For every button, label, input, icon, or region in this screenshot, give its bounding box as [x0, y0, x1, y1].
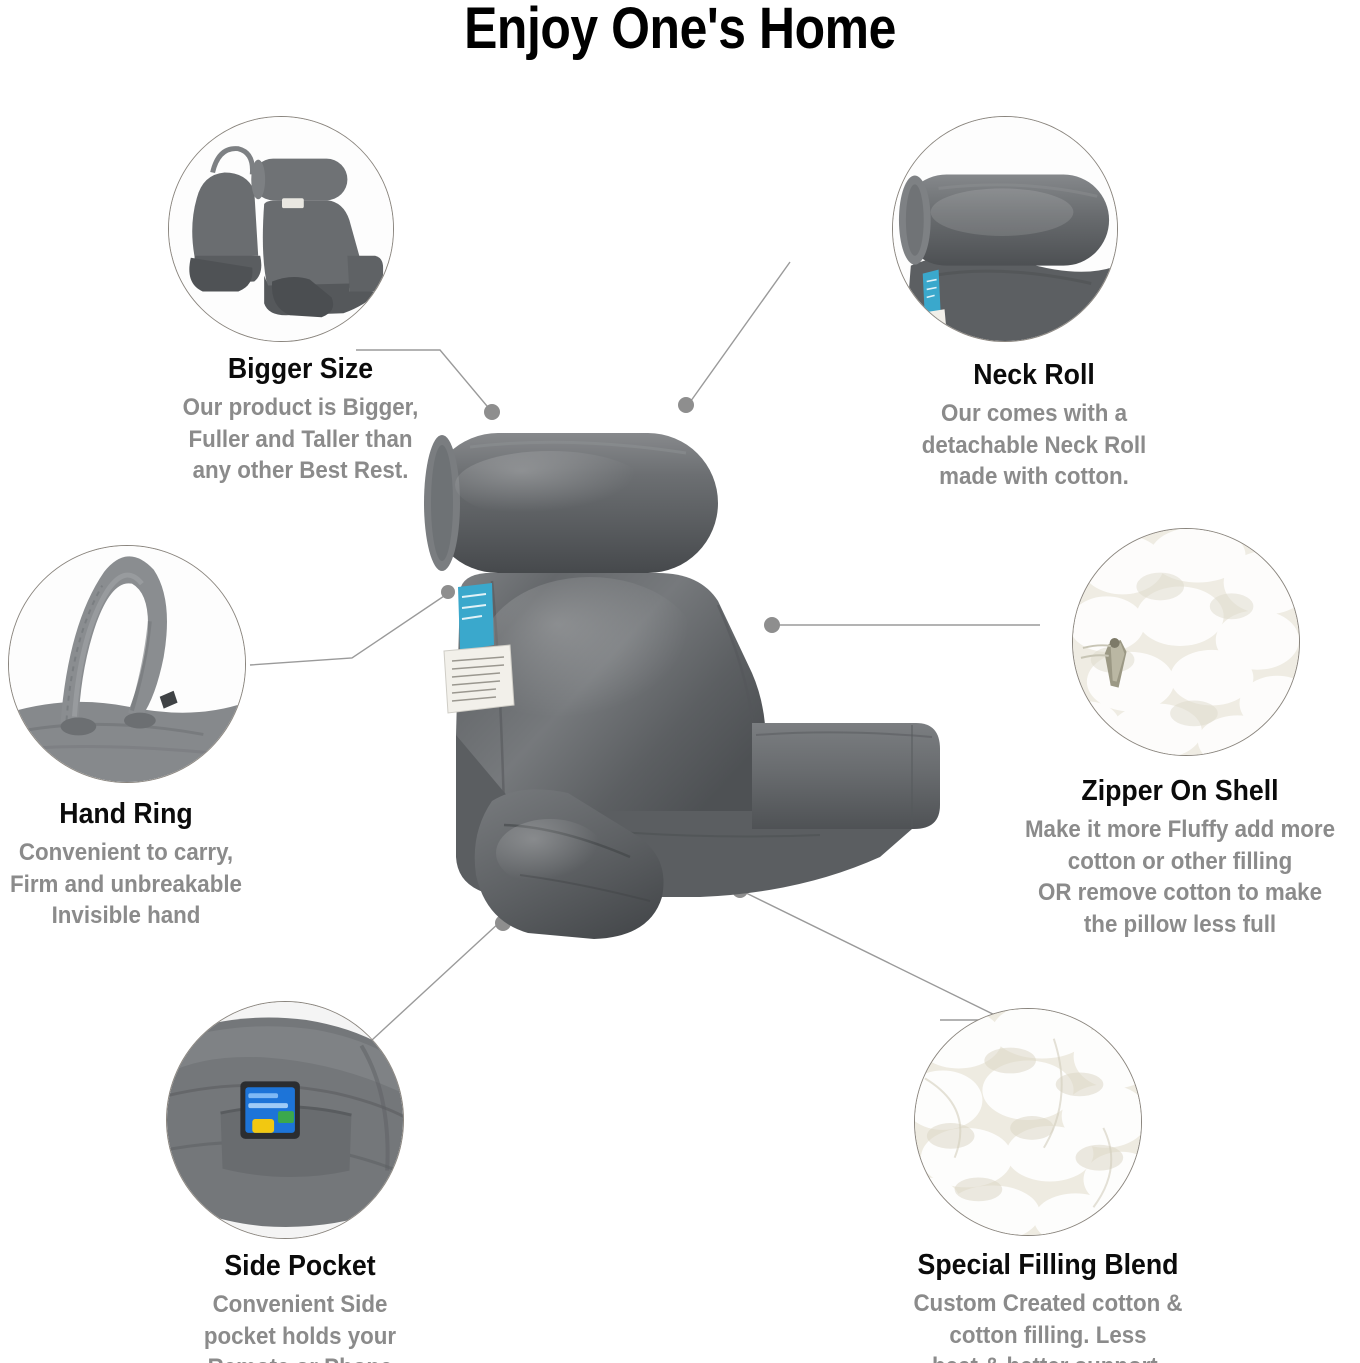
feature-body: Our comes with a detachable Neck Roll ma…: [861, 398, 1207, 493]
feature-title: Side Pocket: [133, 1251, 468, 1283]
neck-roll-image: [892, 116, 1118, 342]
zipper-on-shell-image: [1072, 528, 1300, 756]
feature-title: Neck Roll: [863, 360, 1205, 392]
side-pocket-image: [166, 1001, 404, 1239]
feature-body: Make it more Fluffy add more cotton or o…: [1013, 814, 1348, 941]
feature-title: Bigger Size: [133, 354, 469, 386]
infographic-page: Enjoy One's Home: [0, 0, 1360, 1363]
feature-body: Custom Created cotton & cotton filling. …: [875, 1288, 1221, 1363]
bigger-size-image: [168, 116, 394, 342]
feature-title: Zipper On Shell: [1014, 776, 1345, 808]
feature-special-filling-blend: Special Filling Blend Custom Created cot…: [862, 1008, 1234, 1363]
feature-body: Convenient Side pocket holds your Remote…: [131, 1289, 470, 1363]
feature-side-pocket: Side Pocket Convenient Side pocket holds…: [118, 1001, 482, 1363]
hero-care-label: [444, 645, 514, 713]
feature-body: Convenient to carry, Firm and unbreakabl…: [1, 837, 250, 932]
feature-body: Our product is Bigger, Fuller and Taller…: [131, 392, 470, 487]
hero-right-armrest: [752, 723, 940, 829]
special-filling-blend-image: [914, 1008, 1142, 1236]
phone-in-pocket: [240, 1081, 299, 1139]
feature-title: Hand Ring: [3, 799, 250, 831]
hero-brand-tag: [458, 583, 494, 651]
hand-ring-image: [8, 545, 246, 783]
page-title: Enjoy One's Home: [95, 0, 1265, 63]
feature-neck-roll: Neck Roll Our comes with a detachable Ne…: [848, 116, 1220, 493]
feature-hand-ring: Hand Ring Convenient to carry, Firm and …: [0, 545, 260, 932]
feature-zipper-on-shell: Zipper On Shell Make it more Fluffy add …: [1000, 528, 1360, 941]
connector-neck: [688, 262, 790, 405]
feature-title: Special Filling Blend: [877, 1250, 1219, 1282]
feature-bigger-size: Bigger Size Our product is Bigger, Fulle…: [118, 116, 483, 487]
